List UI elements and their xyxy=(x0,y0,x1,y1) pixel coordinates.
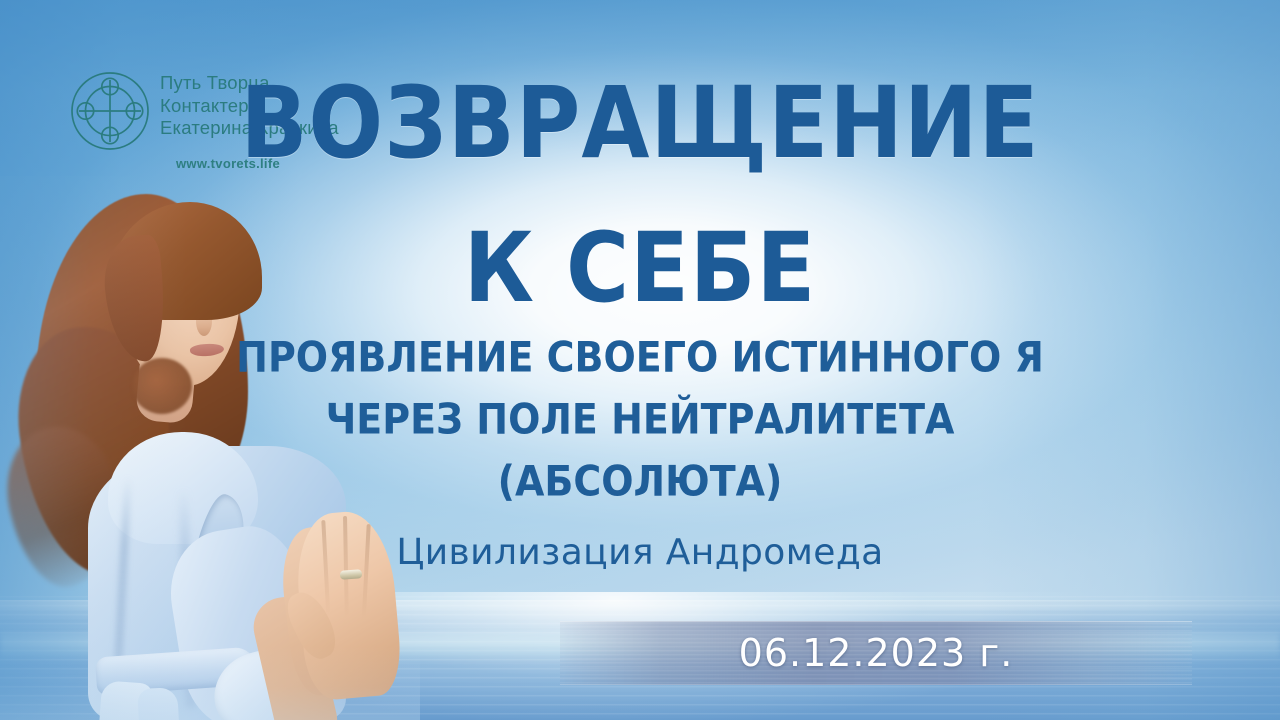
subtitle-line2: ЧЕРЕЗ ПОЛЕ НЕЙТРАЛИТЕТА xyxy=(0,396,1280,442)
civilization-label: Цивилизация Андромеда xyxy=(0,532,1280,574)
date-badge-text: 06.12.2023 г. xyxy=(560,630,1192,676)
subtitle-line3: (АБСОЛЮТА) xyxy=(0,458,1280,504)
slide-canvas: Путь Творца Контактер Екатерина Краскина… xyxy=(0,0,1280,720)
page-title-line1: ВОЗВРАЩЕНИЕ xyxy=(0,72,1280,175)
page-title-line2: К СЕБЕ xyxy=(0,218,1280,319)
subtitle-line1: ПРОЯВЛЕНИЕ СВОЕГО ИСТИННОГО Я xyxy=(0,334,1280,380)
